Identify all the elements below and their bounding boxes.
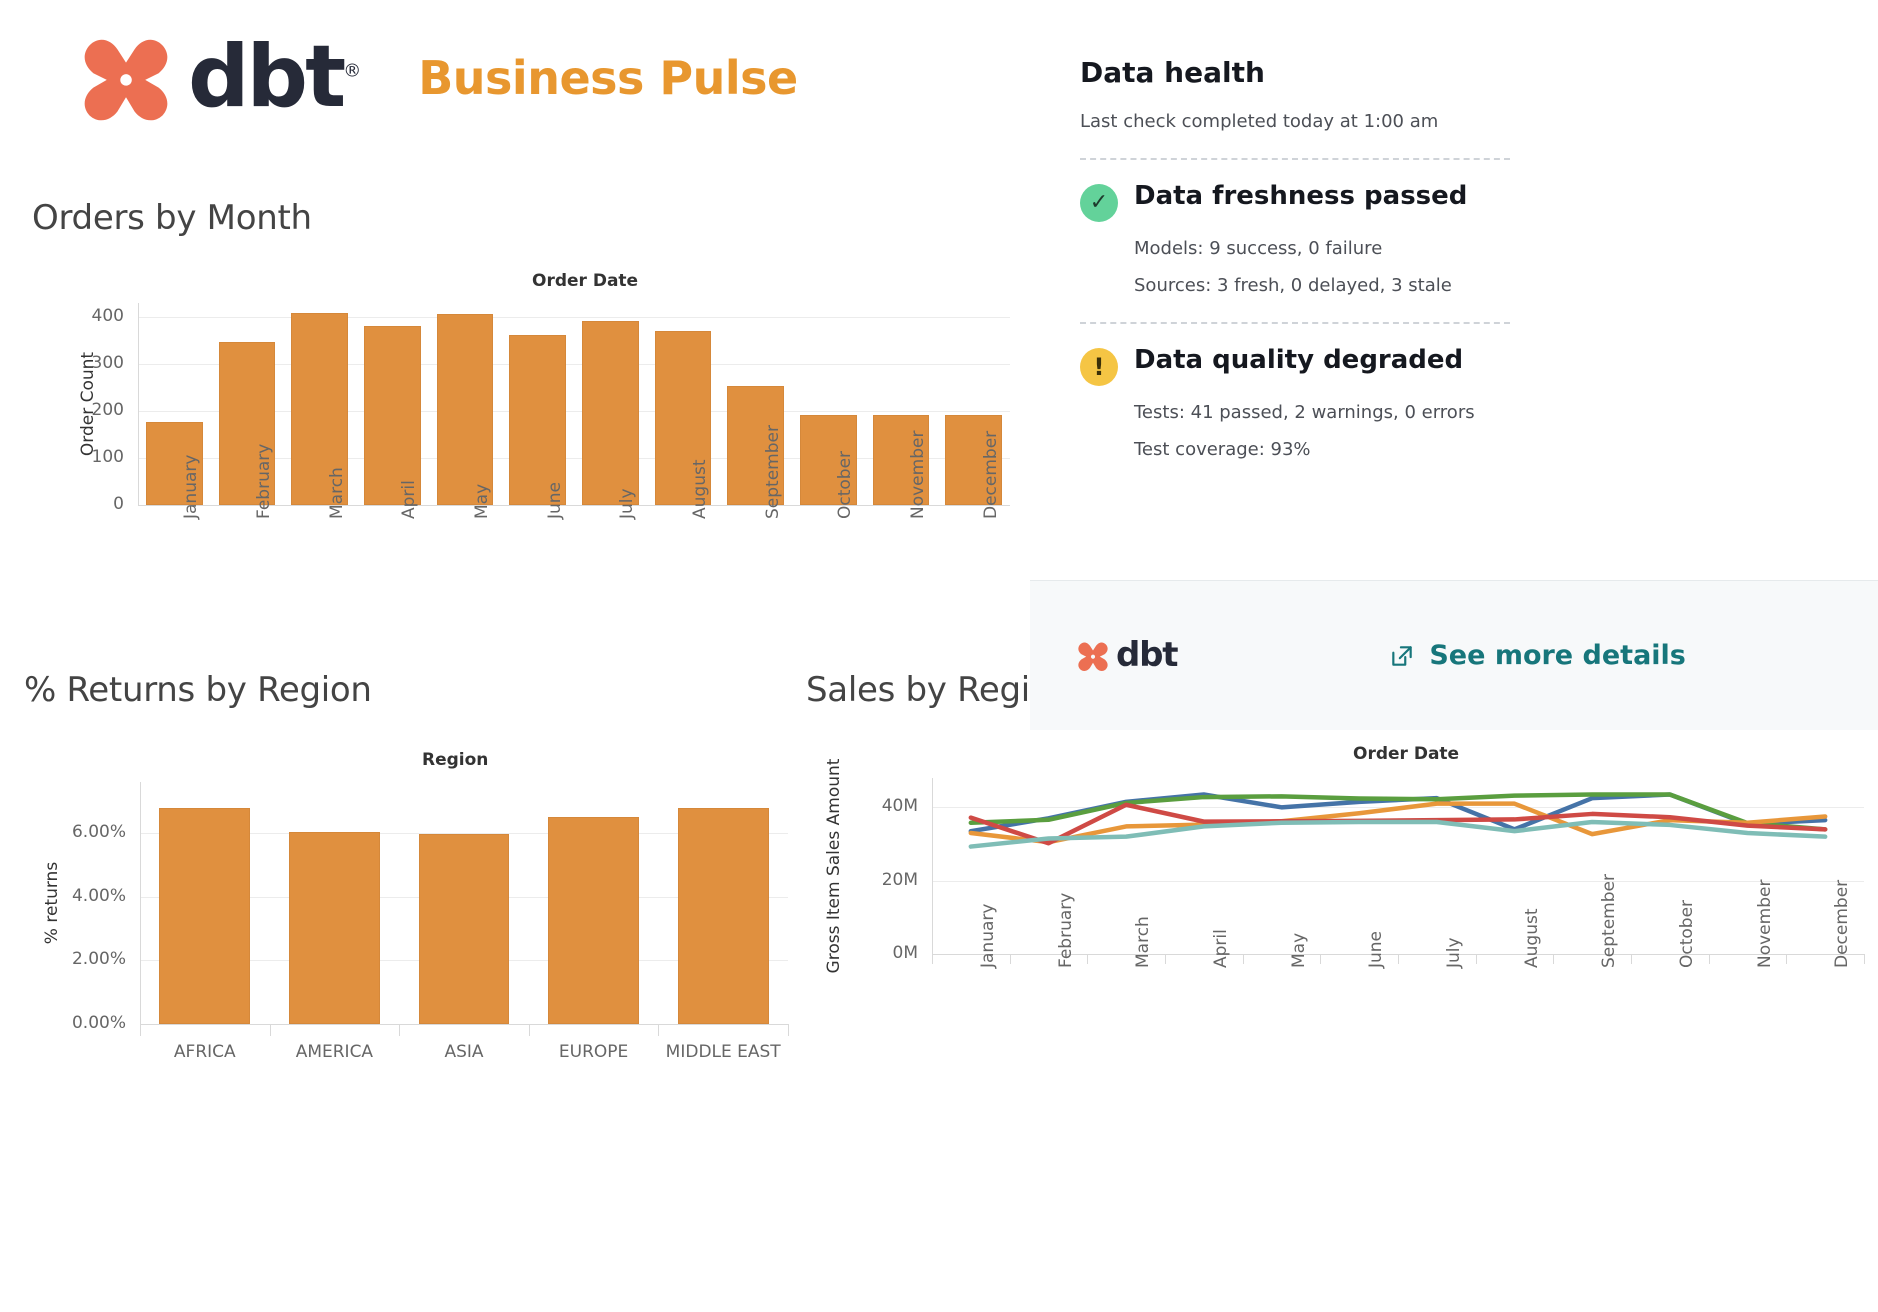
returns_by_region-xtick-mark (140, 1024, 141, 1036)
data-health-panel: Data health Last check completed today a… (1080, 56, 1520, 460)
returns_by_region-xtick-mark (399, 1024, 400, 1036)
orders_by_month-ylabel: Order Count (78, 352, 98, 456)
orders_by_month-xtick: April (399, 480, 419, 519)
orders_by_month-xtick: June (545, 482, 565, 519)
health-item-title: Data quality degraded (1134, 346, 1463, 375)
sales_by_region-xtick: May (1289, 933, 1309, 968)
orders_by_month-xtick: February (254, 444, 274, 519)
orders_by_month-xtick: March (327, 467, 347, 519)
returns_by_region-yaxis (140, 782, 141, 1024)
sales_by_region-xtick-mark (1864, 954, 1865, 964)
orders_by_month-xtick: July (617, 488, 637, 519)
orders_by_month-yaxis (138, 303, 139, 505)
orders_by_month-xtick: August (690, 460, 710, 520)
returns_by_region-xtick-mark (658, 1024, 659, 1036)
returns_by_region-xtick: EUROPE (529, 1042, 659, 1062)
orders_by_month-bar[interactable] (509, 335, 566, 505)
sales_by_region-xtick: November (1755, 880, 1775, 968)
health-item-detail: Test coverage: 93% (1134, 439, 1520, 460)
returns_by_region-ytick: 0.00% (30, 1013, 126, 1033)
sales_by_region-xtick-mark (1165, 954, 1166, 964)
sales_by_region-xtick: August (1522, 909, 1542, 969)
dbt-logo: dbt® (78, 30, 358, 126)
sales_by_region-xtick: January (978, 904, 998, 968)
health-item-title: Data freshness passed (1134, 182, 1467, 211)
sales_by_region-xtick: October (1677, 900, 1697, 968)
orders_by_month-xtick: December (981, 431, 1001, 519)
orders_by_month-ytick: 400 (70, 306, 124, 326)
orders_by_month-bar[interactable] (364, 326, 421, 505)
returns_by_region-bar[interactable] (548, 817, 639, 1024)
returns-by-region-chart[interactable]: Region0.00%2.00%4.00%6.00%AFRICAAMERICAA… (30, 722, 790, 1102)
returns_by_region-xtick: ASIA (399, 1042, 529, 1062)
sales_by_region-xtick: February (1056, 893, 1076, 968)
returns_by_region-ylabel: % returns (42, 862, 62, 944)
sales_by_region-ylabel: Gross Item Sales Amount (824, 759, 844, 974)
data-health-title: Data health (1080, 56, 1520, 89)
returns_by_region-xtick: AMERICA (270, 1042, 400, 1062)
orders_by_month-xtick: October (835, 451, 855, 519)
warning-glyph: ! (1094, 355, 1105, 379)
dbt-x-icon (1076, 639, 1110, 673)
returns_by_region-xtick: AFRICA (140, 1042, 270, 1062)
orders_by_month-bar[interactable] (582, 321, 639, 505)
health-divider-1 (1080, 158, 1510, 160)
sales_by_region-xtick-mark (1786, 954, 1787, 964)
returns_by_region-xtick-mark (788, 1024, 789, 1036)
sales_by_region-xtick-mark (1087, 954, 1088, 964)
external-link-icon (1389, 643, 1415, 669)
see-more-details-label: See more details (1429, 640, 1686, 671)
sales_by_region-xtick-mark (1476, 954, 1477, 964)
returns_by_region-bar[interactable] (678, 808, 769, 1024)
orders_by_month-gridline (138, 317, 1010, 318)
sales_by_region-xtick-mark (932, 954, 933, 964)
returns_by_region-bar[interactable] (419, 834, 510, 1024)
check-circle-icon: ✓ (1080, 184, 1118, 222)
returns_by_region-top-label: Region (422, 750, 488, 770)
warning-circle-icon: ! (1080, 348, 1118, 386)
orders_by_month-xtick: January (181, 455, 201, 519)
sales_by_region-xtick: July (1444, 937, 1464, 968)
health-item-detail: Models: 9 success, 0 failure (1134, 238, 1520, 259)
sales_by_region-xtick-mark (1553, 954, 1554, 964)
sales_by_region-xtick: December (1832, 880, 1852, 968)
line-series-teal[interactable] (971, 822, 1825, 847)
returns_by_region-ytick: 2.00% (30, 949, 126, 969)
returns_by_region-xaxis (140, 1024, 788, 1025)
sales_by_region-xtick-mark (1320, 954, 1321, 964)
returns-by-region-title: % Returns by Region (24, 670, 372, 710)
orders_by_month-bar[interactable] (437, 314, 494, 505)
dbt-wordmark-small: dbt (1116, 640, 1177, 671)
orders_by_month-ytick: 0 (70, 494, 124, 514)
sales_by_region-xtick-mark (1010, 954, 1011, 964)
see-more-details-card[interactable]: dbt See more details (1030, 580, 1878, 730)
orders-by-month-chart[interactable]: Order Date0100200300400JanuaryFebruaryMa… (70, 255, 1020, 635)
sales_by_region-xtick-mark (1631, 954, 1632, 964)
check-glyph: ✓ (1090, 192, 1108, 214)
dashboard-header: dbt® Business Pulse (78, 30, 798, 126)
returns_by_region-ytick: 6.00% (30, 822, 126, 842)
orders_by_month-xtick: November (908, 431, 928, 519)
see-more-details-link[interactable]: See more details (1389, 640, 1686, 671)
health-divider-2 (1080, 322, 1510, 324)
dbt-wordmark: dbt® (188, 39, 358, 116)
returns_by_region-bar[interactable] (159, 808, 250, 1024)
health-item-freshness: ✓ Data freshness passed Models: 9 succes… (1080, 182, 1520, 296)
data-health-subtitle: Last check completed today at 1:00 am (1080, 111, 1520, 132)
health-item-detail: Tests: 41 passed, 2 warnings, 0 errors (1134, 402, 1520, 423)
health-item-detail: Sources: 3 fresh, 0 delayed, 3 stale (1134, 275, 1520, 296)
orders_by_month-xtick: May (472, 484, 492, 519)
sales_by_region-xtick: March (1133, 916, 1153, 968)
returns_by_region-xtick-mark (270, 1024, 271, 1036)
sales_by_region-xtick-mark (1709, 954, 1710, 964)
sales_by_region-xtick-mark (1243, 954, 1244, 964)
sales_by_region-xtick-mark (1398, 954, 1399, 964)
orders_by_month-top-label: Order Date (532, 271, 638, 291)
sales_by_region-xtick: April (1211, 929, 1231, 968)
dbt-logo-small: dbt (1076, 639, 1177, 673)
dashboard-page: dbt® Business Pulse Orders by Month % Re… (0, 0, 1878, 1312)
returns_by_region-xtick: MIDDLE EAST (658, 1042, 788, 1062)
returns_by_region-bar[interactable] (289, 832, 380, 1024)
health-item-quality: ! Data quality degraded Tests: 41 passed… (1080, 346, 1520, 460)
dbt-x-icon (78, 30, 174, 126)
sales-by-region-chart[interactable]: Order Date0M20M40MJanuaryFebruaryMarchAp… (812, 726, 1872, 1126)
page-title: Business Pulse (418, 51, 798, 105)
dbt-wordmark-text: dbt (188, 27, 343, 127)
orders-by-month-title: Orders by Month (32, 198, 312, 238)
sales_by_region-xtick: June (1366, 931, 1386, 968)
dbt-trademark: ® (343, 61, 358, 82)
sales_by_region-xtick: September (1599, 874, 1619, 968)
returns_by_region-xtick-mark (529, 1024, 530, 1036)
orders_by_month-xtick: September (763, 425, 783, 519)
sales_by_region-lines (812, 726, 1872, 1126)
